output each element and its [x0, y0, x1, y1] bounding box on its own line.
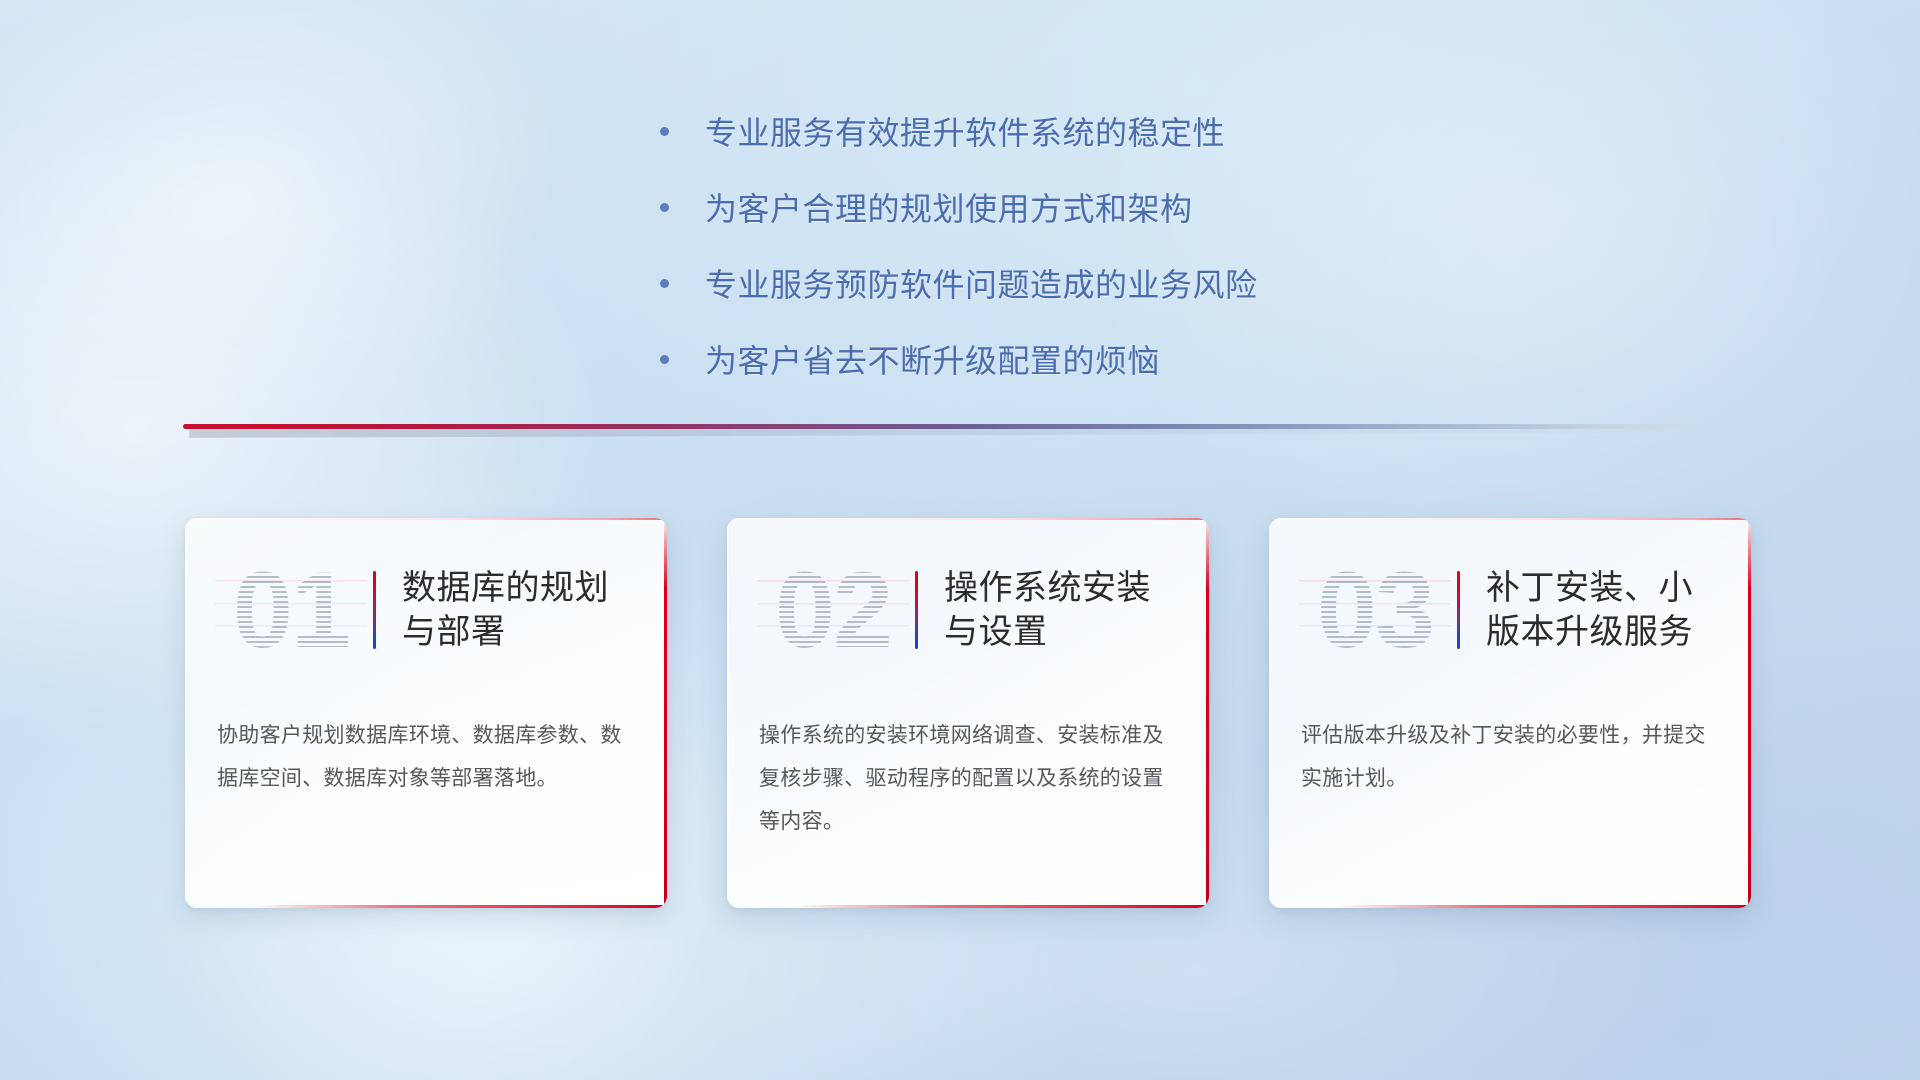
- card-top-edge: [1269, 518, 1751, 520]
- service-card-01[interactable]: 01 数据库的规划 与部署 协助客户规划数据库环境、数据库参数、数据库空间、数据…: [185, 518, 667, 908]
- card-title: 数据库的规划 与部署: [402, 566, 609, 654]
- card-number-watermark: 02: [757, 552, 909, 668]
- card-bottom-accent: [794, 905, 1209, 908]
- card-body-text: 评估版本升级及补丁安装的必要性，并提交实施计划。: [1301, 714, 1717, 800]
- card-bottom-accent: [1336, 905, 1751, 908]
- card-divider-bar: [915, 571, 918, 649]
- card-title: 操作系统安装 与设置: [944, 566, 1151, 654]
- card-number-watermark: 01: [215, 552, 367, 668]
- bullet-dot-icon: [660, 279, 669, 288]
- card-number-text: 01: [233, 556, 349, 664]
- benefits-bullet-list: 专业服务有效提升软件系统的稳定性 为客户合理的规划使用方式和架构 专业服务预防软…: [660, 108, 1560, 412]
- card-number-watermark: 03: [1299, 552, 1451, 668]
- list-item: 专业服务有效提升软件系统的稳定性: [660, 108, 1560, 154]
- card-body-text: 协助客户规划数据库环境、数据库参数、数据库空间、数据库对象等部署落地。: [217, 714, 633, 800]
- background-glow-left: [0, 0, 633, 537]
- list-item: 为客户合理的规划使用方式和架构: [660, 184, 1560, 230]
- card-bottom-accent: [252, 905, 667, 908]
- card-title-line-2: 与设置: [944, 610, 1151, 654]
- slide-canvas: 专业服务有效提升软件系统的稳定性 为客户合理的规划使用方式和架构 专业服务预防软…: [0, 0, 1920, 1080]
- card-top-edge: [185, 518, 667, 520]
- card-header: 03 补丁安装、小 版本升级服务: [1269, 540, 1751, 680]
- bullet-text: 专业服务预防软件问题造成的业务风险: [705, 260, 1258, 306]
- bullet-dot-icon: [660, 355, 669, 364]
- service-card-row: 01 数据库的规划 与部署 协助客户规划数据库环境、数据库参数、数据库空间、数据…: [185, 518, 1751, 908]
- bullet-dot-icon: [660, 203, 669, 212]
- bullet-text: 为客户省去不断升级配置的烦恼: [705, 336, 1160, 382]
- list-item: 专业服务预防软件问题造成的业务风险: [660, 260, 1560, 306]
- card-number-text: 03: [1317, 556, 1433, 664]
- card-title-line-1: 数据库的规划: [402, 566, 609, 610]
- card-title-line-1: 补丁安装、小: [1486, 566, 1693, 610]
- card-top-edge: [727, 518, 1209, 520]
- card-body-text: 操作系统的安装环境网络调查、安装标准及复核步骤、驱动程序的配置以及系统的设置等内…: [759, 714, 1175, 843]
- card-divider-bar: [1457, 571, 1460, 649]
- card-divider-bar: [373, 571, 376, 649]
- list-item: 为客户省去不断升级配置的烦恼: [660, 336, 1560, 382]
- card-header: 01 数据库的规划 与部署: [185, 540, 667, 680]
- card-title-line-2: 版本升级服务: [1486, 610, 1693, 654]
- divider-gradient-bar: [183, 424, 1743, 429]
- bullet-text: 为客户合理的规划使用方式和架构: [705, 184, 1193, 230]
- card-header: 02 操作系统安装 与设置: [727, 540, 1209, 680]
- card-title-line-2: 与部署: [402, 610, 609, 654]
- card-title: 补丁安装、小 版本升级服务: [1486, 566, 1693, 654]
- service-card-02[interactable]: 02 操作系统安装 与设置 操作系统的安装环境网络调查、安装标准及复核步骤、驱动…: [727, 518, 1209, 908]
- card-number-text: 02: [775, 556, 891, 664]
- section-divider: [183, 424, 1743, 440]
- bullet-text: 专业服务有效提升软件系统的稳定性: [705, 108, 1225, 154]
- bullet-dot-icon: [660, 127, 669, 136]
- card-title-line-1: 操作系统安装: [944, 566, 1151, 610]
- divider-shadow-wedge: [189, 429, 1733, 438]
- service-card-03[interactable]: 03 补丁安装、小 版本升级服务 评估版本升级及补丁安装的必要性，并提交实施计划…: [1269, 518, 1751, 908]
